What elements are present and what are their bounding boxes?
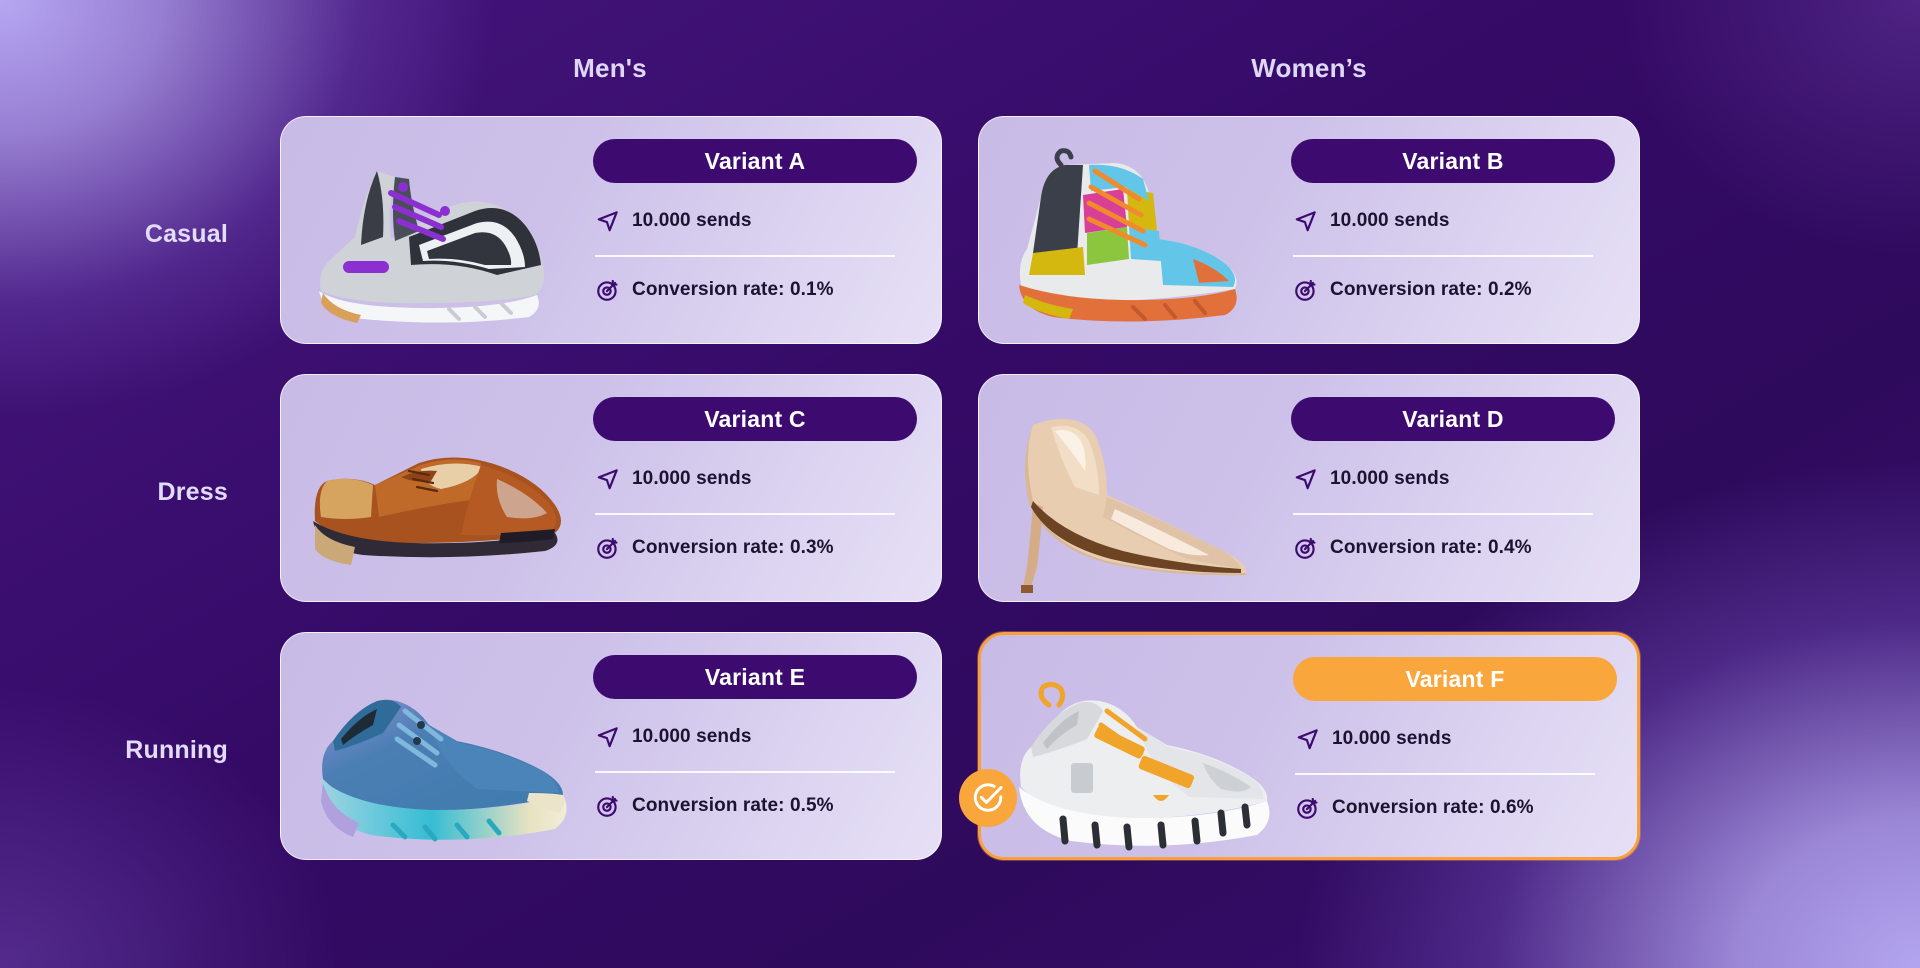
- target-icon: [595, 535, 621, 561]
- send-icon: [1295, 726, 1321, 752]
- detail-divider: [1295, 773, 1595, 775]
- variant-label-button[interactable]: Variant B: [1291, 139, 1615, 183]
- send-icon: [595, 466, 621, 492]
- variant-comparison-grid: Men's Women’s Casual Dress Running: [0, 0, 1920, 968]
- metric-conversion: Conversion rate: 0.6%: [1293, 793, 1623, 823]
- target-icon: [1293, 277, 1319, 303]
- variant-card-c[interactable]: Variant C 10.000 sends Conversion rate: …: [280, 374, 942, 602]
- variant-details: Variant F 10.000 sends Conversion rate: …: [1293, 657, 1623, 823]
- variant-label-button[interactable]: Variant C: [593, 397, 917, 441]
- metric-conversion: Conversion rate: 0.3%: [593, 533, 923, 563]
- detail-divider: [1293, 255, 1593, 257]
- variant-details: Variant B 10.000 sends Conversion rate: …: [1291, 139, 1621, 305]
- column-header-mens: Men's: [280, 48, 940, 88]
- product-image-dress-stiletto-nude: [989, 381, 1289, 597]
- variant-card-e[interactable]: Variant E 10.000 sends Conversion rate: …: [280, 632, 942, 860]
- product-image-running-sneaker-blue: [291, 639, 591, 855]
- variant-details: Variant E 10.000 sends Conversion rate: …: [593, 655, 923, 821]
- conversion-value: Conversion rate: 0.1%: [632, 279, 834, 301]
- send-icon: [595, 208, 621, 234]
- variant-card-d[interactable]: Variant D 10.000 sends Conversion rate: …: [978, 374, 1640, 602]
- sends-value: 10.000 sends: [632, 210, 752, 232]
- conversion-value: Conversion rate: 0.3%: [632, 537, 834, 559]
- sends-value: 10.000 sends: [1332, 728, 1452, 750]
- target-icon: [595, 793, 621, 819]
- target-icon: [1293, 535, 1319, 561]
- row-label-casual: Casual: [0, 220, 228, 249]
- conversion-value: Conversion rate: 0.6%: [1332, 797, 1534, 819]
- metric-conversion: Conversion rate: 0.5%: [593, 791, 923, 821]
- product-image-running-sneaker-white-orange: [991, 641, 1291, 857]
- metric-conversion: Conversion rate: 0.4%: [1291, 533, 1621, 563]
- row-label-dress: Dress: [0, 478, 228, 507]
- target-icon: [595, 277, 621, 303]
- metric-conversion: Conversion rate: 0.1%: [593, 275, 923, 305]
- metric-sends: 10.000 sends: [1291, 206, 1621, 236]
- metric-sends: 10.000 sends: [1293, 724, 1623, 754]
- sends-value: 10.000 sends: [632, 468, 752, 490]
- variant-card-f[interactable]: Variant F 10.000 sends Conversion rate: …: [978, 632, 1640, 860]
- variant-card-b[interactable]: Variant B 10.000 sends Conversion rate: …: [978, 116, 1640, 344]
- conversion-value: Conversion rate: 0.2%: [1330, 279, 1532, 301]
- product-image-dress-oxford-brown: [291, 381, 591, 597]
- sends-value: 10.000 sends: [1330, 468, 1450, 490]
- metric-sends: 10.000 sends: [593, 464, 923, 494]
- send-icon: [1293, 208, 1319, 234]
- sends-value: 10.000 sends: [632, 726, 752, 748]
- metric-sends: 10.000 sends: [593, 206, 923, 236]
- variant-card-a[interactable]: Variant A 10.000 sends Conversion rate: …: [280, 116, 942, 344]
- product-image-casual-high-top-colorblock: [989, 123, 1289, 339]
- row-label-running: Running: [0, 736, 228, 765]
- send-icon: [1293, 466, 1319, 492]
- detail-divider: [595, 513, 895, 515]
- variant-details: Variant A 10.000 sends Conversion rate: …: [593, 139, 923, 305]
- send-icon: [595, 724, 621, 750]
- winner-badge: [959, 769, 1017, 827]
- metric-sends: 10.000 sends: [593, 722, 923, 752]
- detail-divider: [595, 255, 895, 257]
- product-image-casual-sneaker-grey-purple: [291, 123, 591, 339]
- check-circle-icon: [971, 781, 1005, 815]
- target-icon: [1295, 795, 1321, 821]
- detail-divider: [595, 771, 895, 773]
- variant-details: Variant C 10.000 sends Conversion rate: …: [593, 397, 923, 563]
- variant-label-button[interactable]: Variant F: [1293, 657, 1617, 701]
- metric-sends: 10.000 sends: [1291, 464, 1621, 494]
- metric-conversion: Conversion rate: 0.2%: [1291, 275, 1621, 305]
- conversion-value: Conversion rate: 0.5%: [632, 795, 834, 817]
- variant-label-button[interactable]: Variant E: [593, 655, 917, 699]
- variant-details: Variant D 10.000 sends Conversion rate: …: [1291, 397, 1621, 563]
- variant-label-button[interactable]: Variant D: [1291, 397, 1615, 441]
- sends-value: 10.000 sends: [1330, 210, 1450, 232]
- variant-label-button[interactable]: Variant A: [593, 139, 917, 183]
- detail-divider: [1293, 513, 1593, 515]
- column-header-womens: Women’s: [978, 48, 1640, 88]
- conversion-value: Conversion rate: 0.4%: [1330, 537, 1532, 559]
